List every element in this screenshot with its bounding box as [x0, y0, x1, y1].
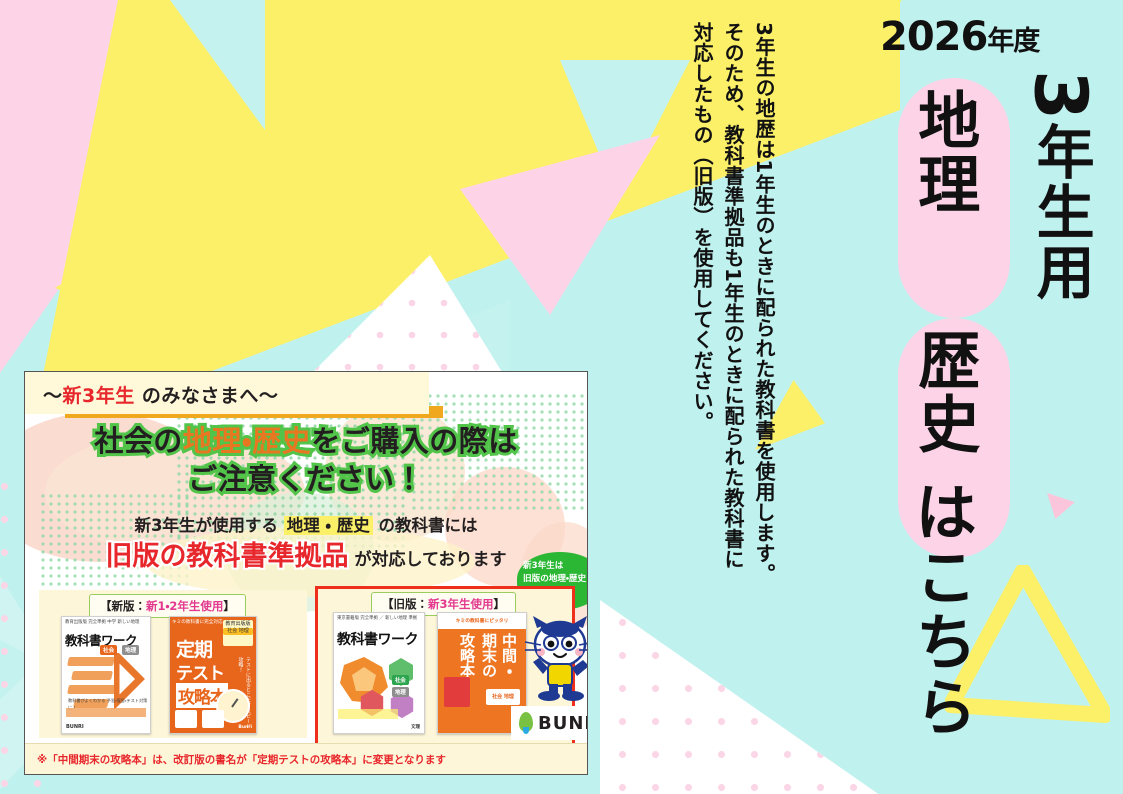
- card-headline-line-1: 社会の地理・歴史をご購入の際は: [25, 422, 587, 461]
- book4-badge: 社会 地理: [486, 689, 520, 705]
- book-cover-new-teiki-test: キミの教科書に完全対応 教育出版版 社会 地理 定期 テスト 攻略本 テストに出…: [169, 616, 257, 734]
- grade-rest: 年生用: [1027, 122, 1095, 302]
- bunri-drop-icon: [519, 712, 533, 732]
- book3-publisher: 文理: [411, 724, 420, 730]
- label-new-c: 】: [223, 599, 235, 613]
- poster-canvas: 3年生の地歴は1年生のときに配られた教科書を使用します。 そのため、教科書準拠品…: [0, 0, 1123, 794]
- book-cover-old-kyokasho-work: 東京書籍版 完全準拠 ／ 新しい地理 準拠 教科書ワーク 社会 地理 文理: [333, 612, 425, 734]
- ribbon-highlight: 新3年生: [63, 385, 135, 407]
- card-subtext-line-1: 新3年生が使用する 地理 ・ 歴史 の教科書には: [25, 512, 587, 536]
- ribbon-suffix: のみなさまへ～: [135, 385, 279, 407]
- book4-top-note: キミの教科書にピッタリ: [438, 613, 526, 629]
- headline-part-a: 社会の: [94, 424, 183, 458]
- year-number: 2026: [880, 14, 987, 60]
- subtext-black: が対応しております: [349, 550, 507, 570]
- book3-tag-geography: 地理: [392, 687, 409, 697]
- label-old-c: 】: [494, 597, 506, 611]
- subject-geography: 地理: [912, 88, 975, 216]
- book2-publisher: Bunri: [238, 725, 252, 730]
- card-footnote: ※「中間期末の攻略本」は、改訂版の書名が「定期テストの攻略本」に変更となります: [25, 743, 587, 774]
- vertical-note-block: 3年生の地歴は1年生のときに配られた教科書を使用します。 そのため、教科書準拠品…: [686, 22, 779, 767]
- grade-number: 3: [1019, 70, 1103, 122]
- subtext-highlight: 地理 ・ 歴史: [284, 516, 373, 535]
- vertical-note-line-2: そのため、教科書準拠品も1年生のときに配られた教科書に: [717, 22, 748, 761]
- card-footnote-text: ※「中間期末の攻略本」は、改訂版の書名が「定期テストの攻略本」に変更となります: [37, 752, 446, 767]
- book4-title-2: 期末の: [479, 633, 500, 678]
- book4-title-3: 攻略本: [457, 633, 478, 678]
- bunri-logo-text: BUNRI: [538, 713, 588, 734]
- year-suffix: 年度: [987, 26, 1039, 57]
- label-old-b: 新3年生使用: [428, 597, 494, 611]
- mascot-character: [521, 610, 588, 702]
- label-new-a: 【新版：: [100, 599, 146, 613]
- book3-title: 教科書ワーク: [337, 629, 418, 649]
- subtext-red: 旧版の教科書準拠品: [106, 541, 349, 572]
- book4-title-1: 中間・: [499, 633, 520, 678]
- book1-tag-geography: 地理: [122, 645, 139, 655]
- subtext-b: の教科書には: [373, 516, 478, 535]
- vertical-note-line-3: 対応したもの（旧版）を使用してください。: [686, 22, 717, 761]
- label-old-a: 【旧版：: [382, 597, 428, 611]
- subtext-a: 新3年生が使用する: [134, 516, 283, 535]
- headline-subjects: 地理・歴史: [183, 424, 311, 458]
- book2-badge-line-2: 社会 地理: [223, 628, 253, 634]
- notice-poster-card[interactable]: ～新3年生 のみなさまへ～ 社会の地理・歴史をご購入の際は ご注意ください！ 新…: [24, 371, 588, 775]
- bunri-logo: BUNRI: [511, 706, 588, 740]
- year-label: 2026年度: [880, 14, 1039, 60]
- book1-publisher: BUNRI: [66, 724, 84, 730]
- book4-red-booklet: [444, 677, 470, 707]
- book1-top-note: 教育出版版 完全準拠 中学 新しい地理: [62, 617, 150, 630]
- subject-history: 歴史: [912, 328, 975, 456]
- book2-title-2: テスト: [176, 659, 224, 684]
- book-cover-new-kyokasho-work: 教育出版版 完全準拠 中学 新しい地理 教科書ワーク 社会 地理 教科書がよくわ…: [61, 616, 151, 734]
- book2-badge-line-1: 教育出版版: [223, 621, 253, 627]
- label-new-b: 新1・2年生使用: [146, 599, 223, 613]
- grade-label: 3年生用: [1020, 70, 1101, 302]
- panel-new-edition-label: 【新版：新1・2年生使用】: [89, 594, 246, 618]
- bubble-line-1: 新3年生は: [523, 560, 588, 573]
- book1-tag-social: 社会: [100, 645, 117, 655]
- bubble-line-2: 旧版の地理・歴史: [523, 573, 588, 586]
- vertical-note-line-1: 3年生の地歴は1年生のときに配られた教科書を使用します。: [748, 22, 779, 761]
- book3-tag-social: 社会: [392, 675, 409, 685]
- ribbon-prefix: ～: [43, 385, 63, 407]
- headline-part-c: をご購入の際は: [311, 424, 518, 458]
- card-subtext-line-2: 旧版の教科書準拠品 が対応しております: [25, 534, 587, 573]
- card-headline-line-2: ご注意ください！: [25, 460, 587, 499]
- ribbon-text: ～新3年生 のみなさまへ～: [43, 381, 278, 408]
- call-to-action-text: はこちら: [908, 480, 973, 740]
- book2-badge: 教育出版版 社会 地理: [223, 620, 253, 646]
- book2-title-1: 定期: [176, 635, 212, 662]
- book3-top-note: 東京書籍版 完全準拠 ／ 新しい地理 準拠: [334, 613, 424, 626]
